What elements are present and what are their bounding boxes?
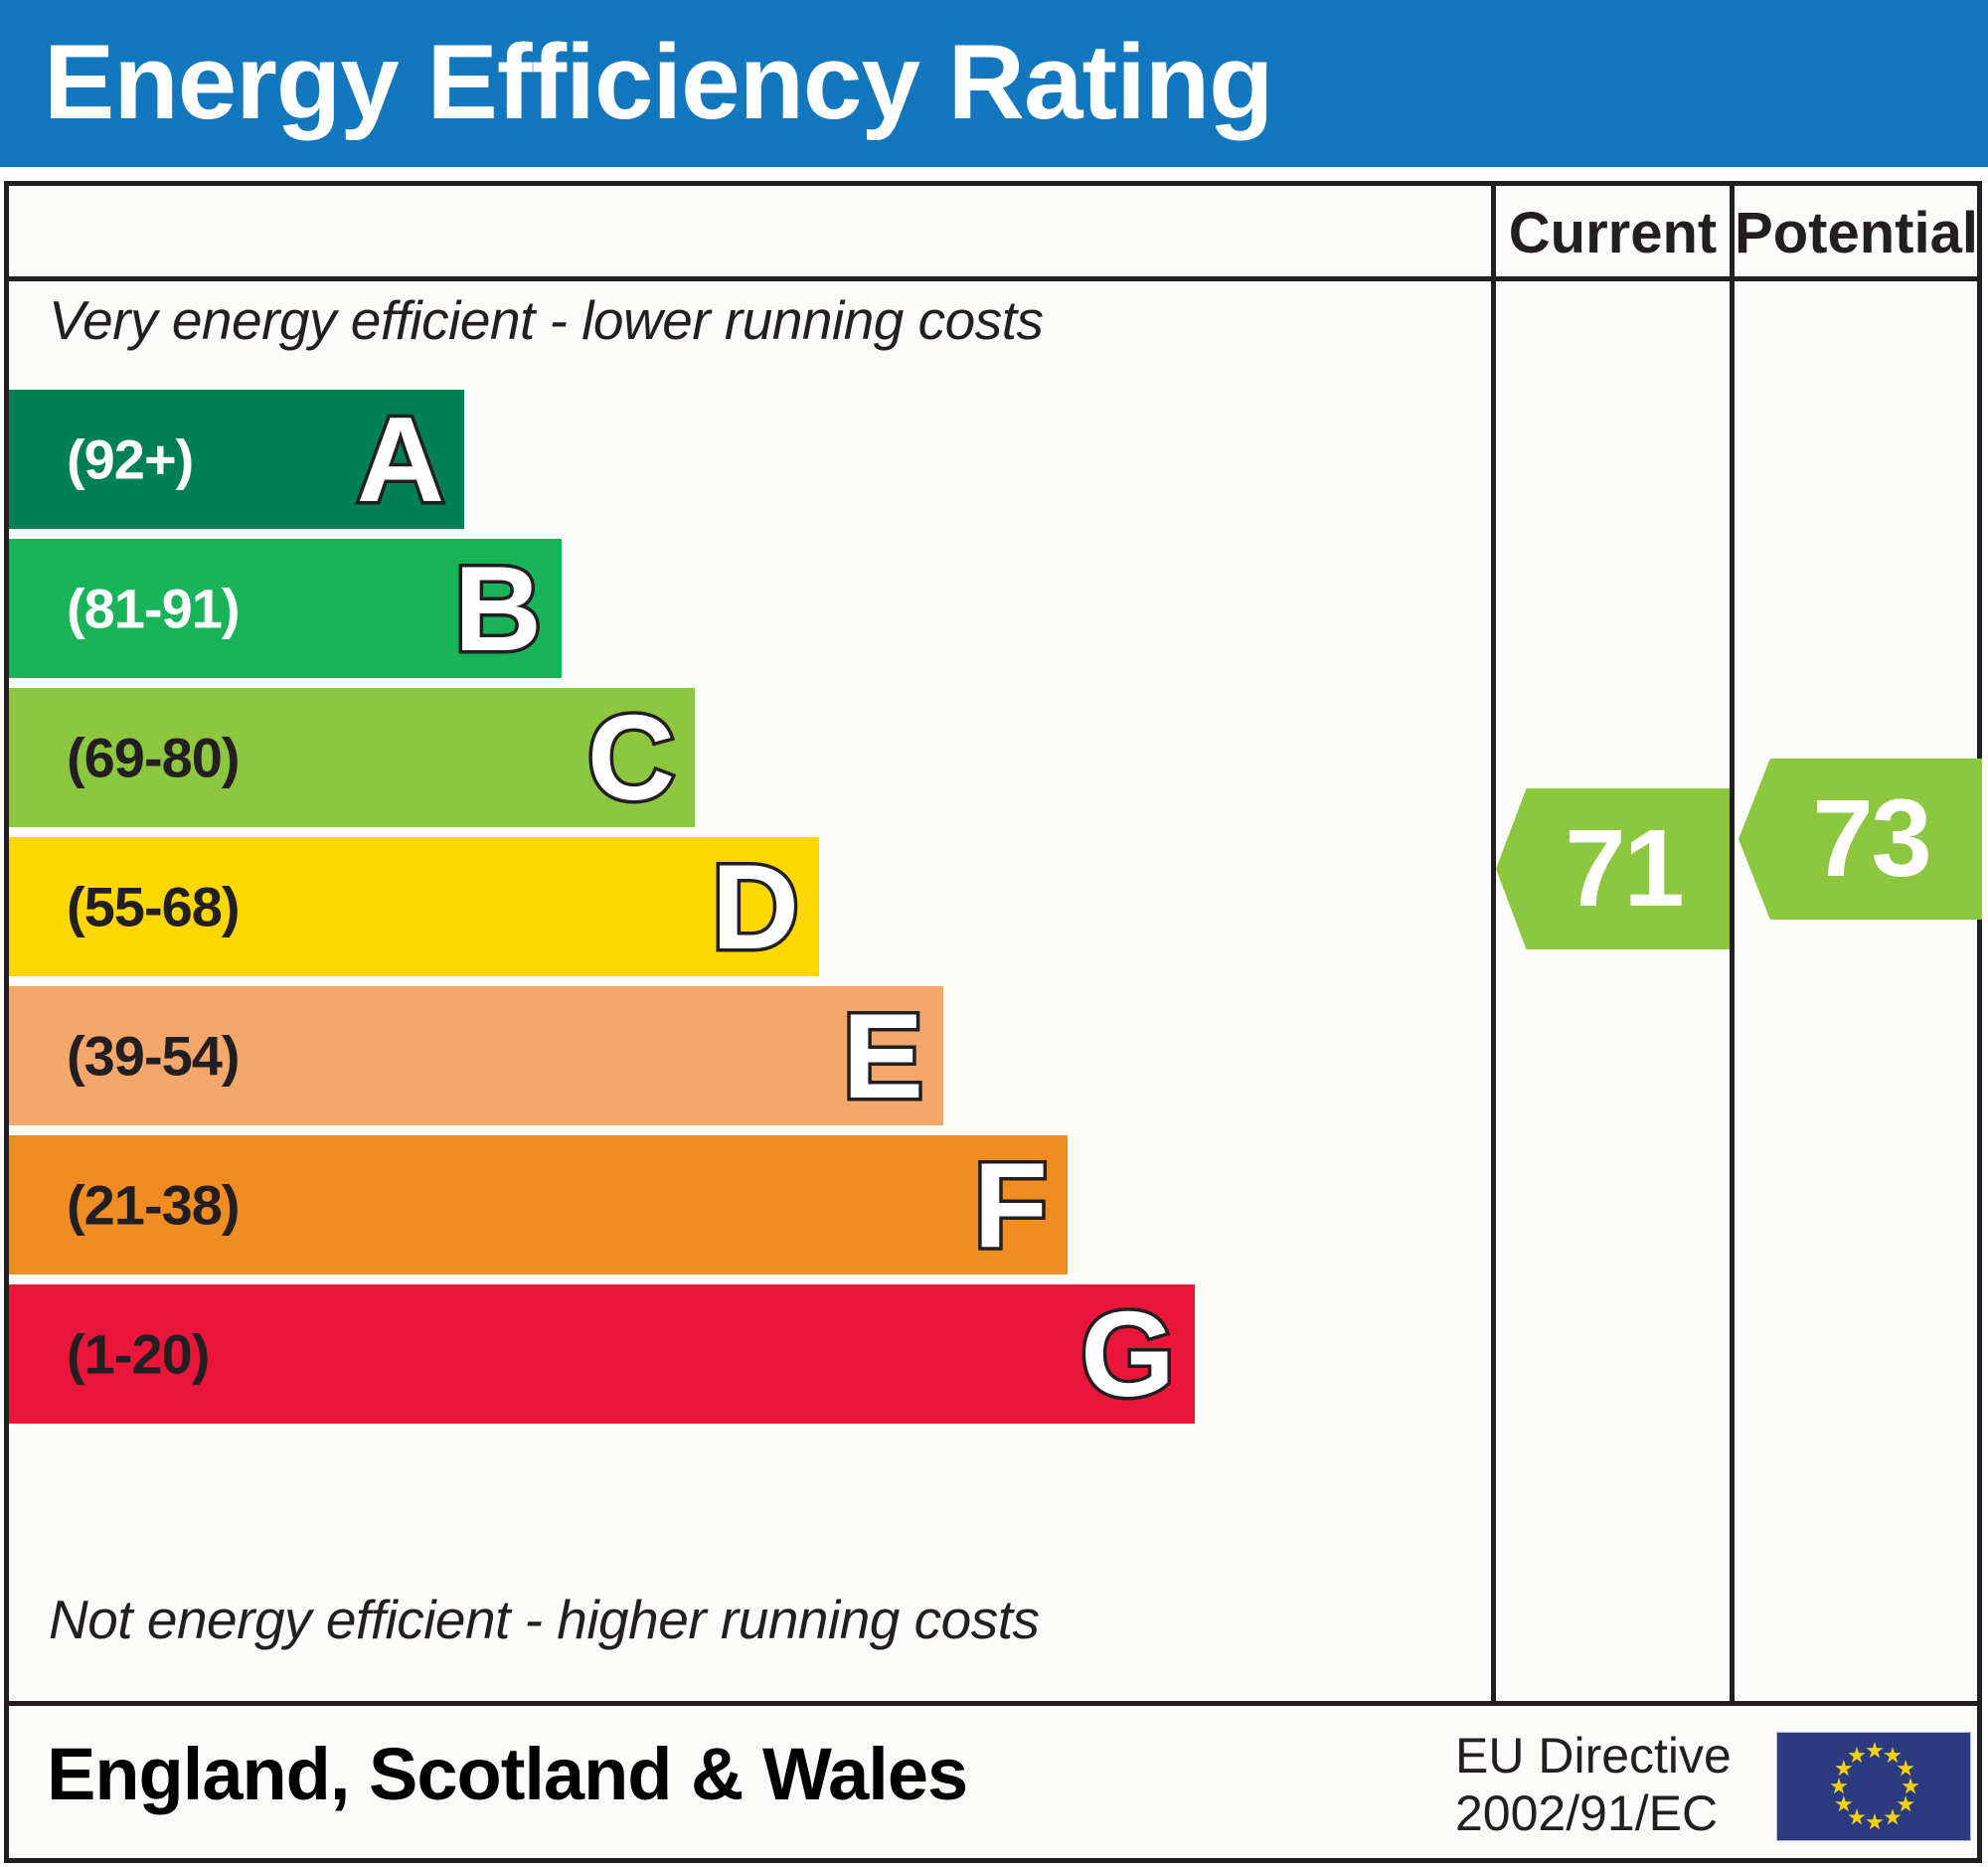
band-range-c: (69-80) <box>67 726 240 790</box>
eu-star-icon <box>1866 1813 1884 1831</box>
eu-star-icon <box>1848 1747 1866 1765</box>
band-letter-f: F <box>973 1144 1046 1266</box>
current-rating-arrow: 71 <box>1496 788 1730 949</box>
rating-band-f: (21-38)F <box>9 1135 1068 1274</box>
band-range-e: (39-54) <box>67 1024 240 1089</box>
eu-star-icon <box>1884 1747 1902 1765</box>
band-letter-b: B <box>454 548 540 669</box>
current-rating-value: 71 <box>1543 814 1682 924</box>
eu-star-icon <box>1884 1808 1902 1826</box>
rating-table: Current Potential Very energy efficient … <box>4 181 1982 1706</box>
band-range-d: (55-68) <box>67 875 240 939</box>
band-letter-g: G <box>1080 1293 1173 1415</box>
eu-star-icon <box>1897 1795 1914 1813</box>
caption-very-efficient: Very energy efficient - lower running co… <box>49 288 1044 352</box>
eu-star-icon <box>1830 1778 1848 1795</box>
eu-star-icon <box>1835 1795 1853 1813</box>
column-header-current: Current <box>1496 200 1730 266</box>
rating-band-g: (1-20)G <box>9 1284 1195 1424</box>
potential-rating-value: 73 <box>1790 784 1929 894</box>
rating-band-c: (69-80)C <box>9 688 695 827</box>
caption-not-efficient: Not energy efficient - higher running co… <box>49 1588 1040 1651</box>
potential-rating-arrow: 73 <box>1739 759 1982 920</box>
rating-band-a: (92+)A <box>9 390 464 529</box>
eu-star-icon <box>1897 1760 1914 1778</box>
band-range-g: (1-20) <box>67 1322 209 1387</box>
band-range-b: (81-91) <box>67 577 240 641</box>
footer-directive-label: EU Directive 2002/91/EC <box>1455 1728 1732 1842</box>
rating-band-d: (55-68)D <box>9 837 819 976</box>
eu-star-icon <box>1835 1760 1853 1778</box>
header-bar: Energy Efficiency Rating <box>0 0 1988 167</box>
rating-band-b: (81-91)B <box>9 539 562 678</box>
potential-column-divider <box>1730 186 1735 1701</box>
eu-star-icon <box>1902 1778 1919 1795</box>
band-letter-e: E <box>843 995 921 1116</box>
footer: England, Scotland & Wales EU Directive 2… <box>4 1706 1982 1863</box>
eu-star-icon <box>1848 1808 1866 1826</box>
band-letter-c: C <box>587 697 673 818</box>
page-title: Energy Efficiency Rating <box>44 26 1273 137</box>
band-letter-a: A <box>357 399 442 520</box>
eu-flag-icon <box>1776 1732 1971 1841</box>
directive-line-1: EU Directive <box>1455 1728 1732 1785</box>
column-header-potential: Potential <box>1735 200 1978 266</box>
band-range-a: (92+) <box>67 427 193 492</box>
eu-star-icon <box>1866 1742 1884 1760</box>
band-letter-d: D <box>712 846 797 967</box>
band-range-f: (21-38) <box>67 1173 240 1238</box>
current-column-divider <box>1491 186 1496 1701</box>
energy-efficiency-certificate: Energy Efficiency Rating Current Potenti… <box>0 0 1988 1867</box>
directive-line-2: 2002/91/EC <box>1455 1785 1732 1843</box>
rating-band-e: (39-54)E <box>9 986 943 1125</box>
footer-region-label: England, Scotland & Wales <box>47 1732 967 1816</box>
